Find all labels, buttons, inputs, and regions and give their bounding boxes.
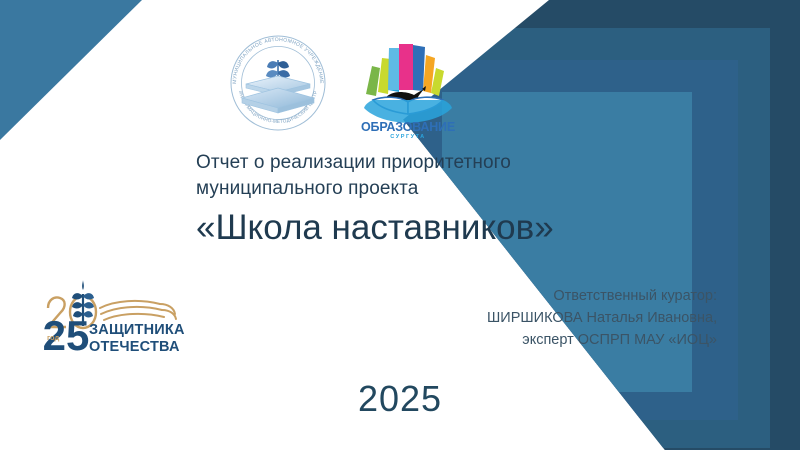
slide-main-title: «Школа наставников» [196, 207, 626, 249]
slide-subtitle-line-1: Отчет о реализации приоритетного [196, 150, 626, 176]
corner-triangle-top-left [0, 0, 142, 140]
curator-position: эксперт ОСПРП МАУ «ИОЦ» [487, 329, 717, 351]
imc-seal-logo: МУНИЦИПАЛЬНОЕ АВТОНОМНОЕ УЧРЕЖДЕНИЕ ИНФО… [222, 27, 334, 139]
fanned-books-icon [366, 44, 444, 96]
slide-subtitle-line-2: муниципального проекта [196, 176, 626, 202]
defender-logo-god-label: год [47, 333, 60, 342]
education-logo-subtitle: СУРГУТА [390, 134, 425, 138]
slide-title-block: Отчет о реализации приоритетного муницип… [196, 150, 626, 249]
curator-block: Ответственный куратор: ШИРШИКОВА Наталья… [487, 285, 717, 351]
defender-of-fatherland-2025-logo: 25 год ЗАЩИТНИКА ОТЕЧЕСТВА [38, 278, 198, 358]
defender-logo-field-strokes [100, 301, 176, 320]
defender-logo-line2: ОТЕЧЕСТВА [89, 339, 180, 355]
curator-name: ШИРШИКОВА Наталья Ивановна, [487, 307, 717, 329]
education-logo-title: ОБРАЗОВАНИЕ [361, 120, 455, 134]
curator-label: Ответственный куратор: [487, 285, 717, 307]
slide-year: 2025 [0, 378, 800, 420]
education-surgut-logo: ОБРАЗОВАНИЕ СУРГУТА [358, 26, 458, 138]
defender-logo-line1: ЗАЩИТНИКА [89, 322, 185, 338]
presentation-title-slide: МУНИЦИПАЛЬНОЕ АВТОНОМНОЕ УЧРЕЖДЕНИЕ ИНФО… [0, 0, 800, 450]
